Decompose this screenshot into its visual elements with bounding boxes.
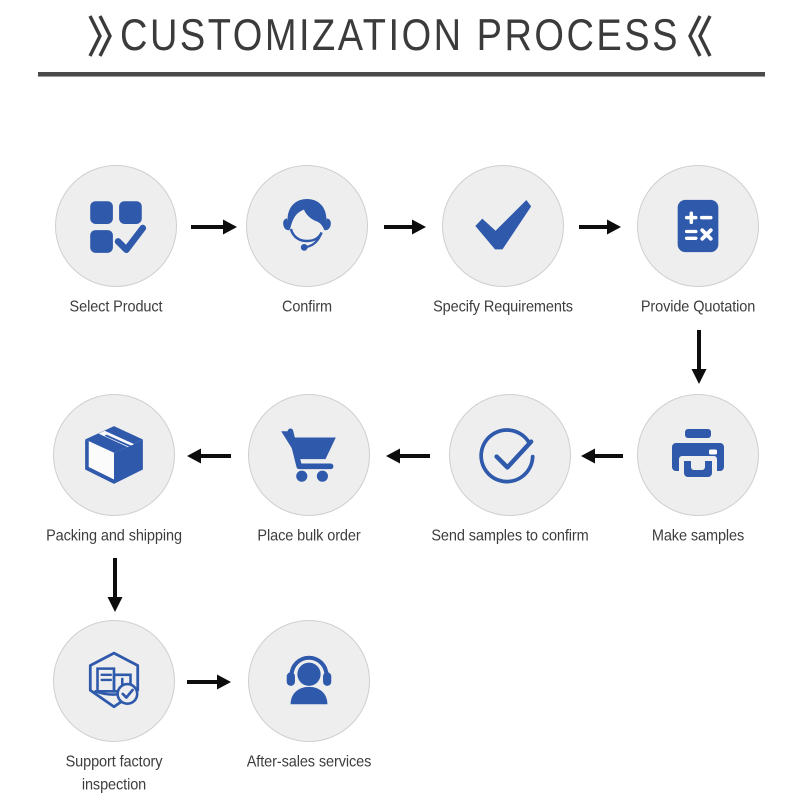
process-step-support-factory-inspection[interactable]: Support factory inspection [34,620,194,793]
process-step-packing-and-shipping[interactable]: Packing and shipping [34,394,194,546]
connector-arrow-right [186,671,232,693]
step-label: Place bulk order [229,525,389,548]
connector-arrow-right [190,216,238,238]
process-step-send-samples-to-confirm[interactable]: Send samples to confirm [430,394,590,546]
factory-inspection-icon [81,648,147,714]
process-step-select-product[interactable]: Select Product [36,165,196,317]
step-icon-circle [442,165,564,287]
step-icon-circle [53,620,175,742]
step-icon-circle [637,394,759,516]
connector-arrow-right [578,216,622,238]
step-label: Support factory inspection [34,751,194,797]
connector-arrow-down [688,329,710,385]
process-step-after-sales-services[interactable]: After-sales services [229,620,389,772]
connector-arrow-left [580,445,624,467]
process-step-confirm[interactable]: Confirm [227,165,387,317]
check-circle-icon [477,422,543,488]
printer-icon [666,423,730,487]
step-icon-circle [449,394,571,516]
step-label: Confirm [227,296,387,319]
step-icon-circle [248,620,370,742]
connector-arrow-left [385,445,431,467]
step-label: Send samples to confirm [430,525,590,548]
support-agent-icon [278,650,340,712]
package-box-icon [81,422,147,488]
process-step-make-samples[interactable]: Make samples [618,394,778,546]
step-label: Packing and shipping [34,525,194,548]
grid-squares-check-icon [83,193,149,259]
headset-operator-icon [275,194,339,258]
process-step-provide-quotation[interactable]: Provide Quotation [618,165,778,317]
step-icon-circle [637,165,759,287]
step-icon-circle [246,165,368,287]
step-label: Provide Quotation [618,296,778,319]
step-label: Select Product [36,296,196,319]
connector-arrow-left [186,445,232,467]
step-icon-circle [55,165,177,287]
connector-arrow-right [383,216,427,238]
shopping-cart-icon [276,422,342,488]
step-icon-circle [53,394,175,516]
process-step-specify-requirements[interactable]: Specify Requirements [423,165,583,317]
process-step-place-bulk-order[interactable]: Place bulk order [229,394,389,546]
calculator-icon [667,195,729,257]
step-label: Specify Requirements [423,296,583,319]
step-label: Make samples [618,525,778,548]
process-flow-diagram: Select Product Confirm [0,0,800,800]
step-icon-circle [248,394,370,516]
checkmark-icon [469,192,537,260]
step-label: After-sales services [229,751,389,774]
connector-arrow-down [104,557,126,613]
